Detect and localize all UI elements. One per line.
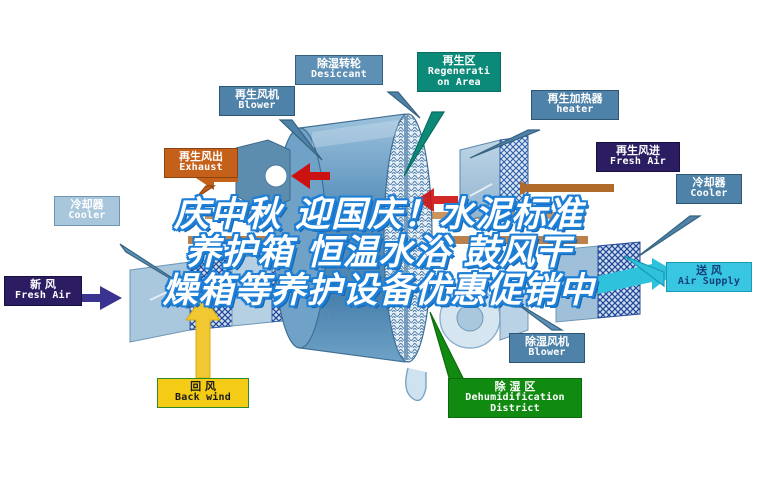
label-dehum-blower[interactable]: 除湿风机 Blower	[509, 333, 585, 363]
label-cooler-left-en: Cooler	[59, 211, 115, 222]
label-fresh-air[interactable]: 新 风 Fresh Air	[4, 276, 82, 306]
label-regen-blower-en: Blower	[224, 101, 290, 112]
label-regen-heater[interactable]: 再生加热器 heater	[531, 90, 619, 120]
regen-blower-unit	[236, 140, 290, 210]
label-regen-heater-en: heater	[536, 105, 614, 116]
label-regen-fresh-air-en: Fresh Air	[601, 157, 675, 168]
label-fresh-air-en: Fresh Air	[9, 291, 77, 302]
label-back-wind[interactable]: 回 风 Back wind	[157, 378, 249, 408]
label-desiccant-rotor[interactable]: 除湿转轮 Desiccant	[295, 55, 383, 85]
label-regen-blower[interactable]: 再生风机 Blower	[219, 86, 295, 116]
label-desiccant-rotor-en: Desiccant	[300, 70, 378, 81]
label-air-supply-en: Air Supply	[671, 277, 747, 288]
drain-hose	[406, 368, 426, 400]
desiccant-dehumidifier-diagram: XT	[0, 0, 757, 488]
label-back-wind-en: Back wind	[162, 393, 244, 404]
label-regen-fresh-air[interactable]: 再生风进 Fresh Air	[596, 142, 680, 172]
label-cooler-right-en: Cooler	[681, 189, 737, 200]
desiccant-rotor: XT	[274, 114, 432, 362]
regen-inlet-arrow	[520, 181, 614, 195]
label-regeneration-area[interactable]: 再生区 Regenerati on Area	[417, 52, 501, 92]
label-exhaust[interactable]: 再生风出 Exhaust	[164, 148, 238, 178]
label-dehumidification-district-en2: District	[453, 404, 577, 415]
label-dehumidification-district[interactable]: 除 湿 区 Dehumidification District	[448, 378, 582, 418]
svg-text:XT: XT	[318, 308, 332, 321]
label-regeneration-area-en2: on Area	[422, 78, 496, 89]
label-air-supply[interactable]: 送 风 Air Supply	[666, 262, 752, 292]
label-dehum-blower-en: Blower	[514, 348, 580, 359]
label-cooler-right[interactable]: 冷却器 Cooler	[676, 174, 742, 204]
label-exhaust-en: Exhaust	[169, 163, 233, 174]
label-cooler-left[interactable]: 冷却器 Cooler	[54, 196, 120, 226]
